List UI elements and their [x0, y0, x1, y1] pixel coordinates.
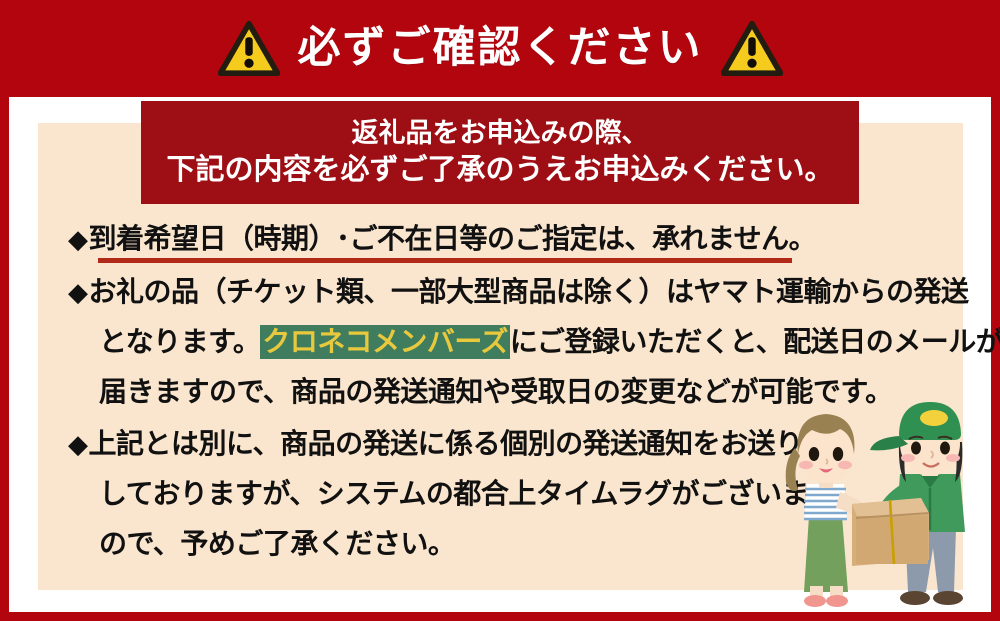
- notice-line-1: 返礼品をお申込みの際、: [352, 118, 649, 149]
- notice-item-2-text-2b: にご登録いただくと、配送日のメールが: [510, 326, 1000, 357]
- notice-item-1-text: 到着希望日（時期）･ご不在日等のご指定は、承れません。: [89, 223, 817, 254]
- warning-triangle-icon: [721, 21, 783, 77]
- notice-banner: 返礼品をお申込みの際、 下記の内容を必ずご了承のうえお申込みください。: [141, 101, 859, 204]
- deliveryman-eye-left: [911, 442, 921, 455]
- notice-item-2-line-2: となります。クロネコメンバーズにご登録いただくと、配送日のメールが: [68, 317, 908, 367]
- footer-bar: [0, 612, 1000, 621]
- woman-blush-left: [799, 461, 813, 469]
- notice-item-1: ◆到着希望日（時期）･ご不在日等のご指定は、承れません。: [68, 214, 908, 263]
- bullet-marker: ◆: [68, 419, 88, 469]
- warning-triangle-icon: [218, 21, 280, 77]
- kuroneko-members-highlight[interactable]: クロネコメンバーズ: [260, 325, 510, 359]
- delivery-handover-illustration: [778, 396, 993, 612]
- notice-item-2-text-1: お礼の品（チケット類、一部大型商品は除く）はヤマト運輸からの発送: [89, 276, 969, 307]
- woman-eye-left: [809, 447, 819, 461]
- woman-eye-right: [833, 447, 843, 461]
- notice-item-2: ◆お礼の品（チケット類、一部大型商品は除く）はヤマト運輸からの発送 となります。…: [68, 267, 908, 417]
- notice-item-3-text-1: 上記とは別に、商品の発送に係る個別の発送通知をお送り: [89, 428, 803, 459]
- notice-line-2: 下記の内容を必ずご了承のうえお申込みください。: [166, 154, 833, 187]
- woman-skirt: [804, 516, 848, 592]
- deliveryman-cap-badge: [920, 410, 948, 426]
- woman-blush-right: [838, 461, 852, 469]
- notice-item-1-line-1: ◆到着希望日（時期）･ご不在日等のご指定は、承れません。: [68, 214, 908, 264]
- deliveryman-shoe-right: [933, 591, 963, 605]
- deliveryman-eye-right: [940, 442, 950, 455]
- woman-shoe-right: [826, 595, 848, 607]
- notice-item-2-text-2a: となります。: [99, 326, 260, 357]
- woman-ponytail: [786, 448, 800, 491]
- deliveryman-blush-left: [901, 454, 915, 462]
- woman-shoe-left: [804, 595, 826, 607]
- promo-notice-banner: 必ずご確認ください 返礼品をお申込みの際、 下記の内容を必ずご了承のうえお申込み…: [0, 0, 1000, 621]
- deliveryman-shoe-left: [900, 591, 930, 605]
- page-title: 必ずご確認ください: [298, 27, 703, 70]
- header-bar: 必ずご確認ください: [0, 0, 1000, 97]
- left-red-border: [0, 97, 9, 612]
- bullet-marker: ◆: [68, 267, 88, 317]
- parcel-box: [852, 498, 929, 566]
- deliveryman-blush-right: [946, 454, 960, 462]
- bullet-marker: ◆: [68, 214, 88, 264]
- notice-item-2-line-1: ◆お礼の品（チケット類、一部大型商品は除く）はヤマト運輸からの発送: [68, 267, 908, 317]
